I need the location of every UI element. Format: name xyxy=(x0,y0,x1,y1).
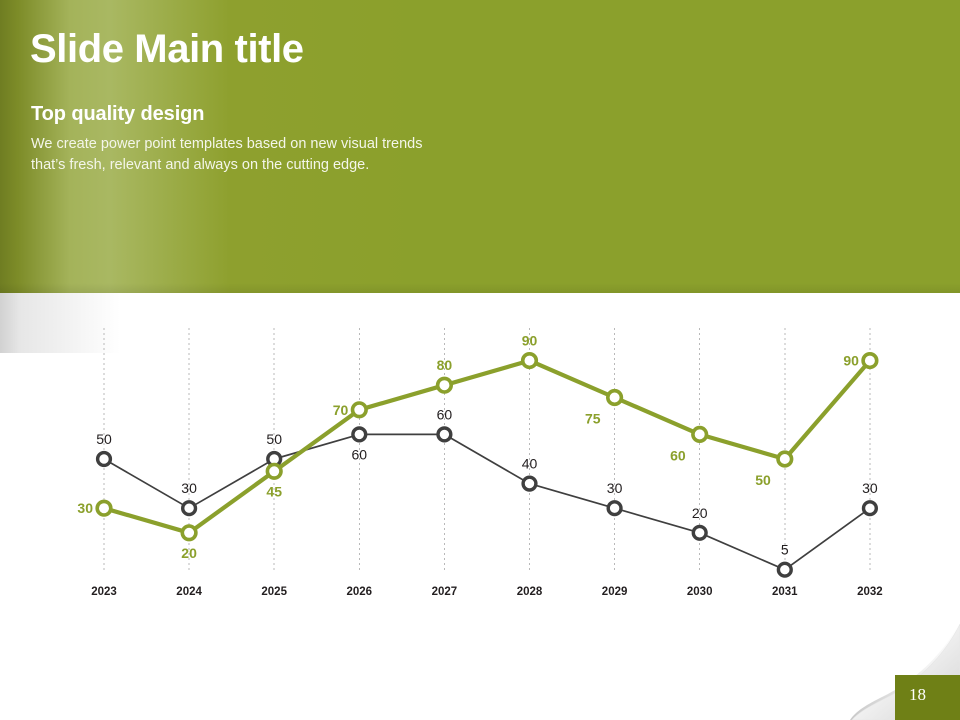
marker-dark-2024 xyxy=(183,502,196,515)
marker-green-2032 xyxy=(863,354,877,368)
marker-dark-2027 xyxy=(438,428,451,441)
x-axis-label-2031: 2031 xyxy=(772,586,798,598)
value-label-dark-2029: 30 xyxy=(607,480,623,496)
value-label-dark-2028: 40 xyxy=(522,456,538,472)
marker-green-2028 xyxy=(523,354,537,368)
marker-dark-2028 xyxy=(523,477,536,490)
x-axis-label-2029: 2029 xyxy=(602,586,628,598)
marker-dark-2032 xyxy=(864,502,877,515)
value-label-dark-2025: 50 xyxy=(266,431,282,447)
body-line-1: We create power point templates based on… xyxy=(31,134,422,155)
header-band: Slide Main title Top quality design We c… xyxy=(0,0,960,293)
x-axis-label-2030: 2030 xyxy=(687,586,713,598)
slide: Slide Main title Top quality design We c… xyxy=(0,0,960,720)
value-label-dark-2032: 30 xyxy=(862,480,878,496)
marker-green-2031 xyxy=(778,452,792,466)
value-label-dark-2023: 50 xyxy=(96,431,112,447)
x-axis-label-2026: 2026 xyxy=(347,586,373,598)
value-label-dark-2027: 60 xyxy=(437,406,453,422)
chart-svg: 503050606040302053030204570809075605090 … xyxy=(0,293,960,623)
marker-green-2027 xyxy=(438,378,452,392)
page-number-badge: 18 xyxy=(895,675,960,720)
x-axis-label-2032: 2032 xyxy=(857,586,883,598)
marker-green-2024 xyxy=(182,526,196,540)
slide-body-text: We create power point templates based on… xyxy=(31,134,422,175)
x-axis-label-2023: 2023 xyxy=(91,586,117,598)
marker-green-2030 xyxy=(693,428,707,442)
marker-dark-2026 xyxy=(353,428,366,441)
value-label-green-2029: 75 xyxy=(585,411,601,427)
value-label-green-2027: 80 xyxy=(437,357,453,373)
value-label-green-2023: 30 xyxy=(77,500,93,516)
x-axis-label-2027: 2027 xyxy=(432,586,458,598)
marker-dark-2030 xyxy=(693,526,706,539)
value-label-dark-2024: 30 xyxy=(181,480,197,496)
value-label-dark-2030: 20 xyxy=(692,505,708,521)
marker-dark-2031 xyxy=(778,563,791,576)
value-label-green-2024: 20 xyxy=(181,545,197,561)
line-chart: 503050606040302053030204570809075605090 … xyxy=(0,293,960,623)
marker-green-2029 xyxy=(608,391,622,405)
slide-subtitle: Top quality design xyxy=(31,103,204,126)
x-axis-label-2028: 2028 xyxy=(517,586,543,598)
value-label-green-2031: 50 xyxy=(755,472,771,488)
marker-dark-2023 xyxy=(98,453,111,466)
body-line-2: that’s fresh, relevant and always on the… xyxy=(31,155,422,176)
series-line-green xyxy=(104,361,870,533)
x-axis-label-2025: 2025 xyxy=(261,586,287,598)
marker-green-2026 xyxy=(353,403,367,417)
page-title: Slide Main title xyxy=(30,28,304,70)
marker-dark-2029 xyxy=(608,502,621,515)
chart-x-axis-labels: 2023202420252026202720282029203020312032 xyxy=(91,586,882,598)
value-label-green-2030: 60 xyxy=(670,447,686,463)
value-label-dark-2031: 5 xyxy=(781,542,789,558)
marker-green-2023 xyxy=(97,501,111,515)
value-label-green-2028: 90 xyxy=(522,333,538,349)
x-axis-label-2024: 2024 xyxy=(176,586,202,598)
series-line-dark xyxy=(104,434,870,569)
value-label-green-2025: 45 xyxy=(266,483,282,499)
marker-green-2025 xyxy=(267,465,281,479)
value-label-green-2032: 90 xyxy=(843,353,859,369)
chart-series-lines xyxy=(104,361,870,570)
value-label-dark-2026: 60 xyxy=(352,446,368,462)
chart-series-markers xyxy=(97,354,877,576)
value-label-green-2026: 70 xyxy=(333,402,349,418)
page-number: 18 xyxy=(909,685,926,705)
